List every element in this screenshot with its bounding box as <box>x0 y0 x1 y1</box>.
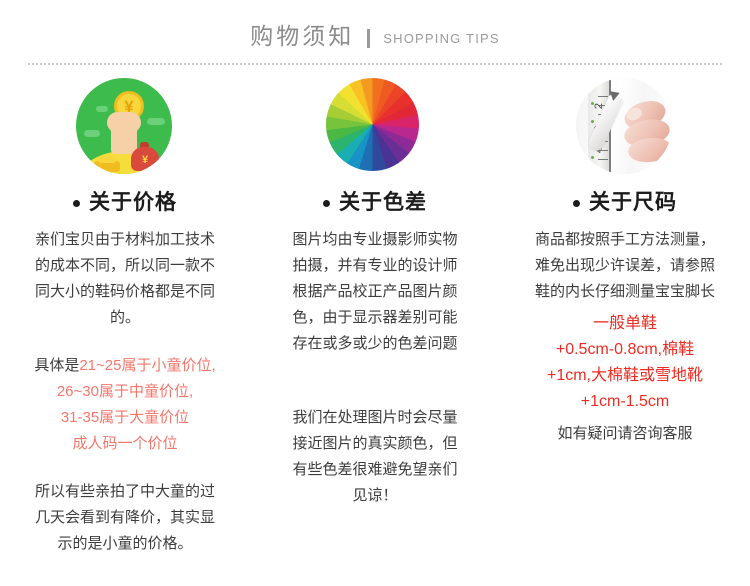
text-line-accent: 26~30属于中童价位, <box>19 379 231 405</box>
text-line-accent: +1cm,大棉鞋或雪地靴 <box>518 363 732 389</box>
ruler-measure-icon: 2 3 4 <box>576 78 674 176</box>
text-line: 同大小的鞋码价格都是不同 <box>19 279 231 305</box>
text-line: 几天会看到有降价，其实显 <box>19 505 231 531</box>
bullet-icon <box>323 200 330 207</box>
text-line-accent: 21~25属于小童价位, <box>79 357 215 374</box>
text-line-accent: 一般单鞋 <box>518 311 732 337</box>
paragraph: 我们在处理图片时会尽量 接近图片的真实颜色，但 有些色差很难避免望亲们 见谅！ <box>275 405 475 509</box>
bullet-icon <box>73 200 80 207</box>
page-title-cn: 购物须知 <box>250 25 354 48</box>
section-heading-price: 关于价格 <box>73 192 177 213</box>
title-separator <box>367 29 370 48</box>
paragraph: 图片均由专业摄影师实物 拍摄，并有专业的设计师 根据产品校正产品图片颜 色，由于… <box>275 227 475 357</box>
price-coin-icon: ¥ ¥ <box>76 78 174 176</box>
text-line: 存在或多或少的色差问题 <box>275 331 475 357</box>
paragraph: 亲们宝贝由于材料加工技术 的成本不同，所以同一款不 同大小的鞋码价格都是不同 的… <box>19 227 231 331</box>
text-line: 的。 <box>19 305 231 331</box>
text-line: 的成本不同，所以同一款不 <box>19 253 231 279</box>
page-header: 购物须知 SHOPPING TIPS <box>0 0 750 58</box>
paragraph: 如有疑问请咨询客服 <box>518 421 732 447</box>
paragraph: 所以有些亲拍了中大童的过 几天会看到有降价，其实显 示的是小童的价格。 <box>19 479 231 557</box>
money-bag-icon: ¥ <box>131 147 159 171</box>
section-title: 关于色差 <box>339 192 427 213</box>
section-heading-size: 关于尺码 <box>573 192 677 213</box>
section-body-color: 图片均由专业摄影师实物 拍摄，并有专业的设计师 根据产品校正产品图片颜 色，由于… <box>275 227 475 509</box>
section-heading-color: 关于色差 <box>323 192 427 213</box>
text-line-accent: 成人码一个价位 <box>19 431 231 457</box>
text-line: 示的是小童的价格。 <box>19 531 231 557</box>
page-title-en: SHOPPING TIPS <box>383 32 500 45</box>
text-line: 根据产品校正产品图片颜 <box>275 279 475 305</box>
tip-section-size: 2 3 4 关于尺码 商品都按照手工方法测量， 难免出现少许误差，请参照 鞋的内… <box>500 78 750 557</box>
tips-columns: ¥ ¥ 关于价格 亲们宝贝由于材料加工技术 的成本不同，所以同一款不 同大小的鞋… <box>0 78 750 557</box>
text-line: 所以有些亲拍了中大童的过 <box>19 479 231 505</box>
text-line: 见谅！ <box>275 483 475 509</box>
section-body-size: 商品都按照手工方法测量， 难免出现少许误差，请参照 鞋的内长仔细测量宝宝脚长 一… <box>518 227 732 447</box>
text-line: 商品都按照手工方法测量， <box>518 227 732 253</box>
text-line: 我们在处理图片时会尽量 <box>275 405 475 431</box>
tip-section-color: 关于色差 图片均由专业摄影师实物 拍摄，并有专业的设计师 根据产品校正产品图片颜… <box>250 78 500 557</box>
text-line: 鞋的内长仔细测量宝宝脚长 <box>518 279 732 305</box>
section-body-price: 亲们宝贝由于材料加工技术 的成本不同，所以同一款不 同大小的鞋码价格都是不同 的… <box>19 227 231 557</box>
text-line-accent: 31-35属于大童价位 <box>19 405 231 431</box>
text-line: 拍摄，并有专业的设计师 <box>275 253 475 279</box>
tip-section-price: ¥ ¥ 关于价格 亲们宝贝由于材料加工技术 的成本不同，所以同一款不 同大小的鞋… <box>0 78 250 557</box>
text-line: 图片均由专业摄影师实物 <box>275 227 475 253</box>
text-line-accent: +0.5cm-0.8cm,棉鞋 <box>518 337 732 363</box>
section-title: 关于价格 <box>89 192 177 213</box>
section-title: 关于尺码 <box>589 192 677 213</box>
bullet-icon <box>573 200 580 207</box>
text-prefix: 具体是 <box>34 357 79 374</box>
color-wheel-icon <box>326 78 424 176</box>
paragraph-measure-allowance: 一般单鞋 +0.5cm-0.8cm,棉鞋 +1cm,大棉鞋或雪地靴 +1cm-1… <box>518 311 732 415</box>
paragraph-sizes: 具体是21~25属于小童价位, 26~30属于中童价位, 31-35属于大童价位… <box>19 353 231 457</box>
text-line: 色，由于显示器差别可能 <box>275 305 475 331</box>
header-divider <box>28 63 722 65</box>
paragraph: 商品都按照手工方法测量， 难免出现少许误差，请参照 鞋的内长仔细测量宝宝脚长 <box>518 227 732 305</box>
text-line: 有些色差很难避免望亲们 <box>275 457 475 483</box>
text-line: 亲们宝贝由于材料加工技术 <box>19 227 231 253</box>
text-line: 接近图片的真实颜色，但 <box>275 431 475 457</box>
text-line-accent: +1cm-1.5cm <box>518 389 732 415</box>
text-line: 难免出现少许误差，请参照 <box>518 253 732 279</box>
text-line: 如有疑问请咨询客服 <box>518 421 732 447</box>
